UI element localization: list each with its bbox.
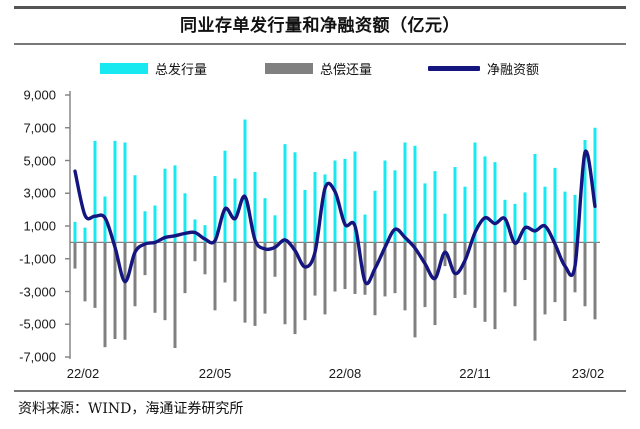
bar-repayment (434, 242, 437, 325)
bar-issuance (334, 161, 337, 243)
bar-issuance (284, 144, 287, 242)
chart-canvas (0, 82, 640, 367)
legend-net-label: 净融资额 (487, 59, 539, 78)
bar-issuance (274, 215, 277, 242)
bar-issuance (304, 190, 307, 242)
bar-issuance (404, 142, 407, 242)
legend-issuance-swatch (100, 63, 148, 74)
bar-issuance (344, 159, 347, 243)
bar-repayment (244, 242, 247, 322)
bar-issuance (464, 187, 467, 243)
plot-area: 9,0007,0005,0003,0001,000-1,000-3,000-5,… (0, 82, 640, 367)
bar-issuance (414, 146, 417, 243)
bar-repayment (254, 242, 257, 326)
bar-issuance (294, 152, 297, 242)
bar-repayment (394, 242, 397, 293)
bar-repayment (524, 242, 527, 280)
bar-issuance (144, 211, 147, 242)
bar-repayment (554, 242, 557, 302)
bar-repayment (324, 242, 327, 314)
bar-repayment (74, 242, 77, 268)
bar-repayment (264, 242, 267, 313)
bar-issuance (264, 198, 267, 242)
top-divider (14, 6, 626, 9)
bar-repayment (184, 242, 187, 293)
bar-repayment (584, 242, 587, 306)
bar-repayment (494, 242, 497, 329)
bar-repayment (564, 242, 567, 321)
bar-issuance (114, 141, 117, 243)
bar-repayment (174, 242, 177, 348)
bar-repayment (144, 242, 147, 275)
bar-repayment (344, 242, 347, 289)
bar-repayment (104, 242, 107, 347)
bar-repayment (194, 242, 197, 261)
bar-issuance (454, 167, 457, 242)
bar-issuance (164, 169, 167, 243)
bar-repayment (214, 242, 217, 310)
bar-repayment (294, 242, 297, 334)
bar-issuance (554, 168, 557, 243)
repayment-bars (74, 242, 597, 348)
bar-issuance (364, 215, 367, 243)
x-tick-label: 23/02 (572, 366, 605, 381)
bar-repayment (204, 242, 207, 274)
bar-repayment (594, 242, 597, 319)
bar-repayment (284, 242, 287, 324)
bar-issuance (564, 192, 567, 243)
legend-repayment-label: 总偿还量 (320, 59, 372, 78)
bar-issuance (574, 195, 577, 242)
chart-legend: 总发行量总偿还量净融资额 (100, 57, 570, 79)
bar-issuance (544, 187, 547, 243)
bar-issuance (384, 161, 387, 243)
bar-repayment (154, 242, 157, 312)
x-tick-label: 22/05 (199, 366, 232, 381)
bar-repayment (414, 242, 417, 337)
bar-repayment (474, 242, 477, 308)
bar-issuance (224, 151, 227, 243)
bar-issuance (424, 183, 427, 242)
bar-issuance (174, 165, 177, 242)
bar-repayment (84, 242, 87, 301)
bar-repayment (224, 242, 227, 282)
bar-repayment (304, 242, 307, 320)
bottom-divider (14, 390, 626, 392)
x-tick-label: 22/11 (459, 366, 491, 381)
bar-issuance (124, 142, 127, 242)
bar-issuance (74, 222, 77, 242)
bar-repayment (234, 242, 237, 301)
issuance-bars (74, 120, 597, 243)
bar-repayment (124, 242, 127, 339)
bar-issuance (524, 192, 527, 242)
legend-repayment[interactable]: 总偿还量 (265, 59, 372, 78)
legend-issuance-label: 总发行量 (155, 59, 207, 78)
legend-issuance[interactable]: 总发行量 (100, 59, 207, 78)
bar-issuance (244, 120, 247, 243)
bar-issuance (484, 156, 487, 242)
bar-issuance (84, 228, 87, 243)
bar-issuance (434, 171, 437, 242)
bar-issuance (374, 191, 377, 243)
bar-issuance (514, 204, 517, 242)
bar-repayment (544, 242, 547, 314)
bar-repayment (514, 242, 517, 306)
bar-repayment (374, 242, 377, 315)
bar-issuance (94, 141, 97, 243)
bar-repayment (424, 242, 427, 307)
bar-repayment (464, 242, 467, 294)
bar-repayment (504, 242, 507, 292)
bar-repayment (354, 242, 357, 294)
title-divider (14, 43, 626, 45)
bar-issuance (214, 176, 217, 242)
chart-page: 同业存单发行量和净融资额（亿元） 总发行量总偿还量净融资额 9,0007,000… (0, 0, 640, 429)
x-tick-label: 22/08 (329, 366, 362, 381)
legend-net[interactable]: 净融资额 (428, 59, 539, 78)
bar-issuance (134, 175, 137, 242)
x-tick-label: 22/02 (67, 366, 100, 381)
x-axis-labels: 22/0222/0522/0822/1123/02 (0, 366, 640, 386)
bar-issuance (494, 162, 497, 242)
page-title: 同业存单发行量和净融资额（亿元） (0, 11, 640, 36)
bar-repayment (534, 242, 537, 340)
legend-net-swatch (428, 66, 480, 71)
bar-issuance (154, 206, 157, 243)
bar-repayment (364, 242, 367, 294)
source-note: 资料来源：WIND，海通证券研究所 (18, 398, 243, 418)
bar-repayment (484, 242, 487, 321)
bar-issuance (234, 179, 237, 243)
bar-issuance (444, 214, 447, 243)
bar-repayment (334, 242, 337, 291)
bar-repayment (404, 242, 407, 310)
bar-issuance (314, 172, 317, 242)
bar-repayment (164, 242, 167, 320)
bar-repayment (94, 242, 97, 308)
legend-repayment-swatch (265, 63, 313, 74)
